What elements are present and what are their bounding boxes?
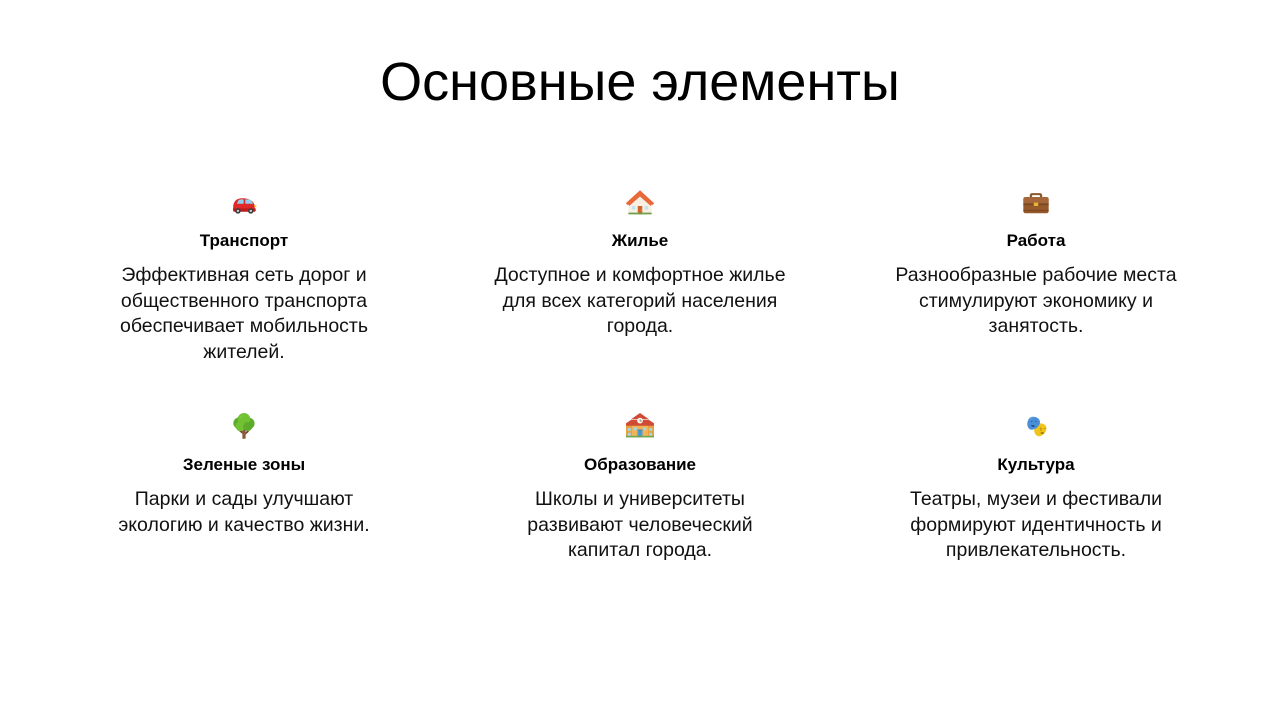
card-description: Разнообразные рабочие места стимулируют … (888, 263, 1184, 340)
card-description: Парки и сады улучшают экологию и качеств… (96, 487, 392, 538)
card-description: Театры, музеи и фестивали формируют иден… (888, 487, 1184, 564)
elements-grid: Транспорт Эффективная сеть дорог и общес… (57, 186, 1223, 564)
briefcase-icon (1019, 186, 1053, 220)
card-title: Жилье (612, 230, 669, 252)
card-description: Школы и университеты развивают человечес… (492, 487, 788, 564)
card-work[interactable]: Работа Разнообразные рабочие места стиму… (849, 186, 1223, 365)
card-green-zones[interactable]: Зеленые зоны Парки и сады улучшают эколо… (57, 409, 431, 564)
slide-root: Основные элементы Транспорт Эффективная … (0, 0, 1280, 720)
card-culture[interactable]: Культура Театры, музеи и фестивали форми… (849, 409, 1223, 564)
car-icon (227, 186, 261, 220)
card-title: Работа (1007, 230, 1066, 252)
card-transport[interactable]: Транспорт Эффективная сеть дорог и общес… (57, 186, 431, 365)
card-title: Транспорт (200, 230, 288, 252)
card-description: Доступное и комфортное жилье для всех ка… (492, 263, 788, 340)
theater-masks-icon (1019, 409, 1053, 443)
card-description: Эффективная сеть дорог и общественного т… (96, 263, 392, 365)
card-education[interactable]: Образование Школы и университеты развива… (453, 409, 827, 564)
card-title: Образование (584, 454, 696, 476)
school-icon (623, 409, 657, 443)
page-title: Основные элементы (0, 48, 1280, 116)
card-title: Зеленые зоны (183, 454, 305, 476)
house-icon (623, 186, 657, 220)
card-housing[interactable]: Жилье Доступное и комфортное жилье для в… (453, 186, 827, 365)
tree-icon (227, 409, 261, 443)
card-title: Культура (997, 454, 1074, 476)
